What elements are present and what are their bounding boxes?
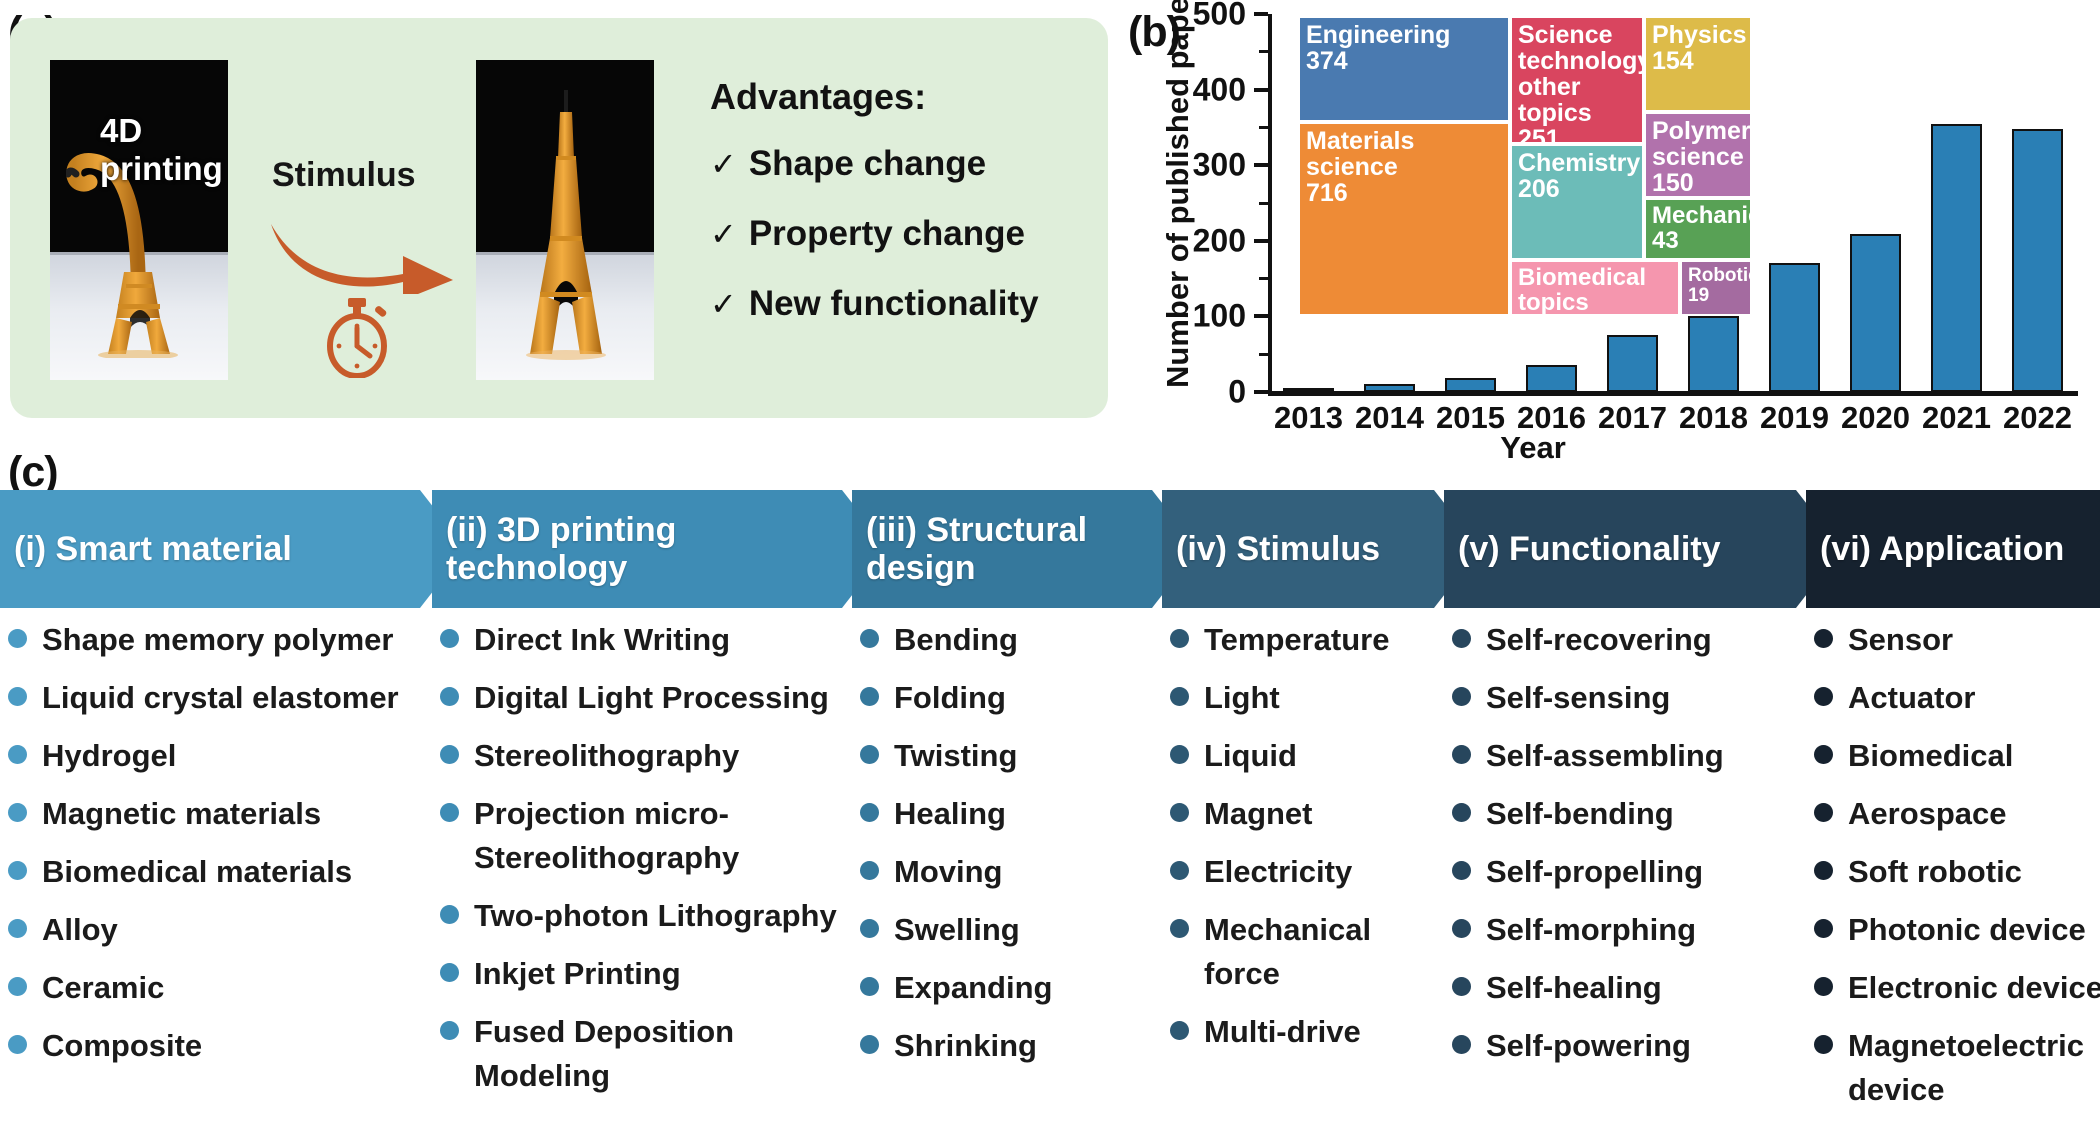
treemap-tile: Polymer science150 [1644, 112, 1752, 198]
bullet-icon [1452, 919, 1471, 938]
list-item[interactable]: Shrinking [860, 1024, 1170, 1068]
treemap-tile: Robotic19 [1680, 260, 1752, 316]
treemap-tile-name: Engineering [1306, 22, 1503, 48]
list-item-label: Folding [894, 676, 1006, 720]
y-tick [1254, 390, 1268, 394]
bullet-icon [1814, 919, 1833, 938]
stage-arrow-3[interactable]: (iii) Structural design [852, 490, 1198, 608]
bullet-icon [860, 861, 879, 880]
bullet-icon [1170, 687, 1189, 706]
stage-arrow-label: (v) Functionality [1444, 530, 1721, 568]
list-item[interactable]: Hydrogel [8, 734, 438, 778]
list-item-label: Self-healing [1486, 966, 1662, 1010]
list-item[interactable]: Folding [860, 676, 1170, 720]
list-item[interactable]: Stereolithography [440, 734, 860, 778]
y-tick-minor [1259, 202, 1268, 205]
list-item[interactable]: Two-photon Lithography [440, 894, 860, 938]
list-item[interactable]: Moving [860, 850, 1170, 894]
list-item[interactable]: Composite [8, 1024, 438, 1068]
bar [1445, 378, 1495, 392]
list-item-label: Magnetoelectric device [1848, 1024, 2100, 1112]
bullet-icon [860, 977, 879, 996]
treemap-tile-name: Chemistry [1518, 150, 1637, 176]
list-item-label: Self-propelling [1486, 850, 1703, 894]
list-item-label: Twisting [894, 734, 1017, 778]
x-tick-label: 2019 [1760, 400, 1829, 436]
list-item-label: Self-morphing [1486, 908, 1696, 952]
list-item[interactable]: Liquid crystal elastomer [8, 676, 438, 720]
bullet-icon [1814, 687, 1833, 706]
list-item-label: Self-assembling [1486, 734, 1724, 778]
bullet-icon [1170, 629, 1189, 648]
bullet-icon [440, 803, 459, 822]
treemap-tile-value: 716 [1306, 180, 1503, 206]
bullet-icon [860, 745, 879, 764]
list-item[interactable]: Shape memory polymer [8, 618, 438, 662]
stage-arrow-label: (iii) Structural design [852, 511, 1146, 587]
list-item-label: Photonic device [1848, 908, 2086, 952]
bullet-icon [1452, 977, 1471, 996]
list-item-label: Shape memory polymer [42, 618, 393, 662]
list-item[interactable]: Digital Light Processing [440, 676, 860, 720]
bullet-icon [1814, 1035, 1833, 1054]
list-item-label: Sensor [1848, 618, 1953, 662]
list-item[interactable]: Biomedical materials [8, 850, 438, 894]
list-item-label: Two-photon Lithography [474, 894, 837, 938]
list-item[interactable]: Aerospace [1814, 792, 2100, 836]
list-item[interactable]: Actuator [1814, 676, 2100, 720]
list-item[interactable]: Alloy [8, 908, 438, 952]
y-tick-label: 300 [1193, 147, 1246, 184]
advantage-label: New functionality [749, 284, 1039, 324]
list-item[interactable]: Mechanical force [1170, 908, 1452, 996]
bullet-icon [440, 687, 459, 706]
list-item[interactable]: Bending [860, 618, 1170, 662]
bullet-icon [1452, 1035, 1471, 1054]
stage-list-3: BendingFoldingTwistingHealingMovingSwell… [860, 618, 1170, 1082]
list-item[interactable]: Self-recovering [1452, 618, 1814, 662]
bullet-icon [1814, 745, 1833, 764]
list-item[interactable]: Soft robotic [1814, 850, 2100, 894]
list-item-label: Inkjet Printing [474, 952, 681, 996]
advantages-block: Advantages: ✓ Shape change ✓ Property ch… [710, 76, 1039, 354]
bar [1607, 335, 1657, 392]
bullet-icon [1814, 977, 1833, 996]
bullet-icon [1170, 745, 1189, 764]
y-tick-label: 100 [1193, 298, 1246, 335]
list-item-label: Fused Deposition Modeling [474, 1010, 860, 1098]
bullet-icon [440, 745, 459, 764]
list-item-label: Multi-drive [1204, 1010, 1361, 1054]
list-item-label: Soft robotic [1848, 850, 2022, 894]
x-tick-label: 2020 [1841, 400, 1910, 436]
bar [1850, 234, 1900, 392]
bullet-icon [8, 1035, 27, 1054]
bullet-icon [1170, 803, 1189, 822]
bullet-icon [440, 1021, 459, 1040]
advantage-item: ✓ Property change [710, 214, 1039, 254]
list-item[interactable]: Fused Deposition Modeling [440, 1010, 860, 1098]
bar [1688, 316, 1738, 392]
y-tick-minor [1259, 50, 1268, 53]
bullet-icon [8, 629, 27, 648]
photo-deformed-tower: 4D printing [50, 60, 228, 380]
list-item-label: Alloy [42, 908, 118, 952]
treemap-tile-name: Materials science [1306, 128, 1503, 180]
list-item-label: Actuator [1848, 676, 1975, 720]
stage-list-1: Shape memory polymerLiquid crystal elast… [8, 618, 438, 1082]
list-item-label: Biomedical materials [42, 850, 352, 894]
list-item-label: Ceramic [42, 966, 164, 1010]
bullet-icon [440, 905, 459, 924]
stage-arrow-6[interactable]: (vi) Application [1806, 490, 2100, 608]
stage-arrow-5[interactable]: (v) Functionality [1444, 490, 1842, 608]
bullet-icon [8, 977, 27, 996]
bullet-icon [8, 861, 27, 880]
curved-arrow-icon [265, 208, 457, 294]
list-item-label: Liquid [1204, 734, 1297, 778]
list-item[interactable]: Magnet [1170, 792, 1452, 836]
list-item[interactable]: Self-bending [1452, 792, 1814, 836]
list-item-label: Digital Light Processing [474, 676, 829, 720]
list-item[interactable]: Ceramic [8, 966, 438, 1010]
list-item[interactable]: Liquid [1170, 734, 1452, 778]
x-tick-label: 2015 [1436, 400, 1505, 436]
list-item[interactable]: Temperature [1170, 618, 1452, 662]
list-item-label: Bending [894, 618, 1018, 662]
bullet-icon [1170, 1021, 1189, 1040]
bullet-icon [440, 629, 459, 648]
y-tick [1254, 163, 1268, 167]
list-item[interactable]: Magnetic materials [8, 792, 438, 836]
list-item[interactable]: Swelling [860, 908, 1170, 952]
bullet-icon [1452, 629, 1471, 648]
list-item-label: Stereolithography [474, 734, 739, 778]
list-item-label: Electricity [1204, 850, 1352, 894]
treemap-tile-name: Mechanics [1652, 204, 1745, 229]
bullet-icon [1814, 629, 1833, 648]
treemap-tile-value: 206 [1518, 176, 1637, 202]
bullet-icon [1452, 687, 1471, 706]
advantages-title: Advantages: [710, 76, 1039, 118]
stage-list-6: SensorActuatorBiomedicalAerospaceSoft ro… [1814, 618, 2100, 1126]
y-axis-line [1268, 14, 1272, 396]
stimulus-label: Stimulus [272, 156, 416, 195]
bullet-icon [8, 919, 27, 938]
bullet-icon [860, 1035, 879, 1054]
panel-c-framework: (i) Smart material(ii) 3D printing techn… [0, 490, 2100, 1143]
list-item[interactable]: Photonic device [1814, 908, 2100, 952]
treemap-tile: Biomedical topics72 [1510, 260, 1680, 316]
list-item-label: Self-sensing [1486, 676, 1670, 720]
treemap-tile-value: 251 [1518, 126, 1637, 144]
treemap-tile-name: Polymer science [1652, 118, 1745, 170]
panel-a-concept: 4D printing Stimulus [10, 18, 1108, 418]
list-item[interactable]: Projection micro-Stereolithography [440, 792, 860, 880]
list-item[interactable]: Direct Ink Writing [440, 618, 860, 662]
treemap-tile-name: Physics [1652, 22, 1745, 48]
treemap-tile: Engineering374 [1298, 16, 1510, 122]
bullet-icon [860, 803, 879, 822]
list-item[interactable]: Multi-drive [1170, 1010, 1452, 1054]
list-item-label: Biomedical [1848, 734, 2013, 778]
list-item[interactable]: Healing [860, 792, 1170, 836]
list-item-label: Electronic device [1848, 966, 2100, 1010]
bar [1526, 365, 1576, 392]
list-item[interactable]: Self-powering [1452, 1024, 1814, 1068]
y-tick [1254, 88, 1268, 92]
stage-arrow-label: (ii) 3D printing technology [432, 511, 836, 587]
treemap-tile-value: 19 [1688, 286, 1745, 306]
list-item-label: Direct Ink Writing [474, 618, 730, 662]
list-item-label: Self-powering [1486, 1024, 1691, 1068]
list-item-label: Light [1204, 676, 1280, 720]
y-tick-label: 500 [1193, 0, 1246, 33]
bullet-icon [1452, 803, 1471, 822]
bullet-icon [860, 629, 879, 648]
stage-arrow-label: (iv) Stimulus [1162, 530, 1380, 568]
list-item-label: Aerospace [1848, 792, 2007, 836]
treemap-tile-value: 374 [1306, 48, 1503, 74]
list-item-label: Hydrogel [42, 734, 176, 778]
bullet-icon [860, 919, 879, 938]
list-item[interactable]: Magnetoelectric device [1814, 1024, 2100, 1112]
y-tick-minor [1259, 353, 1268, 356]
list-item[interactable]: Self-assembling [1452, 734, 1814, 778]
list-item[interactable]: Electricity [1170, 850, 1452, 894]
treemap-tile-name: Science technology other topics [1518, 22, 1637, 126]
treemap-tile-name: Robotic [1688, 266, 1745, 286]
y-tick-label: 0 [1228, 374, 1246, 411]
list-item-label: Swelling [894, 908, 1020, 952]
x-tick-label: 2014 [1355, 400, 1424, 436]
list-item-label: Temperature [1204, 618, 1390, 662]
list-item-label: Magnet [1204, 792, 1313, 836]
x-tick-label: 2022 [2003, 400, 2072, 436]
bullet-icon [1814, 803, 1833, 822]
y-axis-label: Number of published papers [1160, 0, 1196, 388]
photo-recovered-tower [476, 60, 654, 380]
y-tick-label: 400 [1193, 71, 1246, 108]
y-tick [1254, 239, 1268, 243]
x-tick-label: 2021 [1922, 400, 1991, 436]
treemap-tile-value: 150 [1652, 170, 1745, 196]
research-area-treemap: Engineering374Materials science716Scienc… [1298, 16, 1838, 316]
x-tick-label: 2018 [1679, 400, 1748, 436]
bullet-icon [440, 963, 459, 982]
bar [2012, 129, 2062, 392]
advantage-item: ✓ New functionality [710, 284, 1039, 324]
treemap-tile: Mechanics43 [1644, 198, 1752, 260]
bar [1283, 388, 1333, 392]
stage-arrow-4[interactable]: (iv) Stimulus [1162, 490, 1480, 608]
list-item[interactable]: Self-sensing [1452, 676, 1814, 720]
treemap-tile: Physics154 [1644, 16, 1752, 112]
bar [1364, 384, 1414, 392]
list-item-label: Liquid crystal elastomer [42, 676, 399, 720]
y-tick [1254, 314, 1268, 318]
y-tick [1254, 12, 1268, 16]
bar-chart-plot-area: 0100200300400500 20132014201520162017201… [1268, 14, 2078, 396]
photo-caption-4d-printing: 4D printing [100, 112, 228, 188]
list-item[interactable]: Twisting [860, 734, 1170, 778]
bullet-icon [1170, 919, 1189, 938]
y-tick-minor [1259, 277, 1268, 280]
stopwatch-icon [320, 296, 394, 378]
list-item-label: Projection micro-Stereolithography [474, 792, 860, 880]
stage-list-2: Direct Ink WritingDigital Light Processi… [440, 618, 860, 1112]
treemap-tile: Chemistry206 [1510, 144, 1644, 260]
x-tick-label: 2013 [1274, 400, 1343, 436]
straight-eiffel-tower-illustration [516, 88, 616, 360]
list-item[interactable]: Light [1170, 676, 1452, 720]
treemap-tile-value: 43 [1652, 229, 1745, 254]
list-item[interactable]: Electronic device [1814, 966, 2100, 1010]
bullet-icon [1814, 861, 1833, 880]
stage-arrow-label: (i) Smart material [0, 530, 292, 568]
bullet-icon [8, 745, 27, 764]
stage-arrow-1[interactable]: (i) Smart material [0, 490, 466, 608]
list-item-label: Self-recovering [1486, 618, 1712, 662]
list-item[interactable]: Self-healing [1452, 966, 1814, 1010]
advantage-label: Property change [749, 214, 1025, 254]
list-item[interactable]: Expanding [860, 966, 1170, 1010]
list-item[interactable]: Self-morphing [1452, 908, 1814, 952]
bullet-icon [8, 687, 27, 706]
list-item-label: Healing [894, 792, 1006, 836]
x-axis-label: Year [1500, 430, 1566, 466]
panel-b-publication-chart: Number of published papers 0100200300400… [1128, 0, 2100, 440]
list-item-label: Shrinking [894, 1024, 1037, 1068]
stage-list-4: TemperatureLightLiquidMagnetElectricityM… [1170, 618, 1452, 1068]
check-icon: ✓ [710, 215, 737, 253]
list-item-label: Self-bending [1486, 792, 1674, 836]
list-item-label: Composite [42, 1024, 202, 1068]
stage-arrow-label: (vi) Application [1806, 530, 2064, 568]
check-icon: ✓ [710, 285, 737, 323]
bullet-icon [1452, 745, 1471, 764]
bullet-icon [1170, 861, 1189, 880]
list-item[interactable]: Biomedical [1814, 734, 2100, 778]
y-tick-minor [1259, 126, 1268, 129]
bullet-icon [860, 687, 879, 706]
stage-arrow-row: (i) Smart material(ii) 3D printing techn… [0, 490, 2100, 608]
treemap-tile: Materials science716 [1298, 122, 1510, 316]
bar [1931, 124, 1981, 392]
list-item[interactable]: Inkjet Printing [440, 952, 860, 996]
check-icon: ✓ [710, 145, 737, 183]
bullet-icon [1452, 861, 1471, 880]
advantage-item: ✓ Shape change [710, 144, 1039, 184]
list-item-label: Mechanical force [1204, 908, 1452, 996]
stage-arrow-2[interactable]: (ii) 3D printing technology [432, 490, 888, 608]
stage-list-5: Self-recoveringSelf-sensingSelf-assembli… [1452, 618, 1814, 1082]
list-item-label: Magnetic materials [42, 792, 321, 836]
treemap-tile-name: Biomedical topics [1518, 266, 1673, 316]
list-item-label: Expanding [894, 966, 1052, 1010]
treemap-tile-value: 154 [1652, 48, 1745, 74]
y-tick-label: 200 [1193, 222, 1246, 259]
list-item[interactable]: Self-propelling [1452, 850, 1814, 894]
bullet-icon [8, 803, 27, 822]
list-item-label: Moving [894, 850, 1003, 894]
advantage-label: Shape change [749, 144, 986, 184]
x-tick-label: 2017 [1598, 400, 1667, 436]
list-item[interactable]: Sensor [1814, 618, 2100, 662]
treemap-tile: Science technology other topics251 [1510, 16, 1644, 144]
